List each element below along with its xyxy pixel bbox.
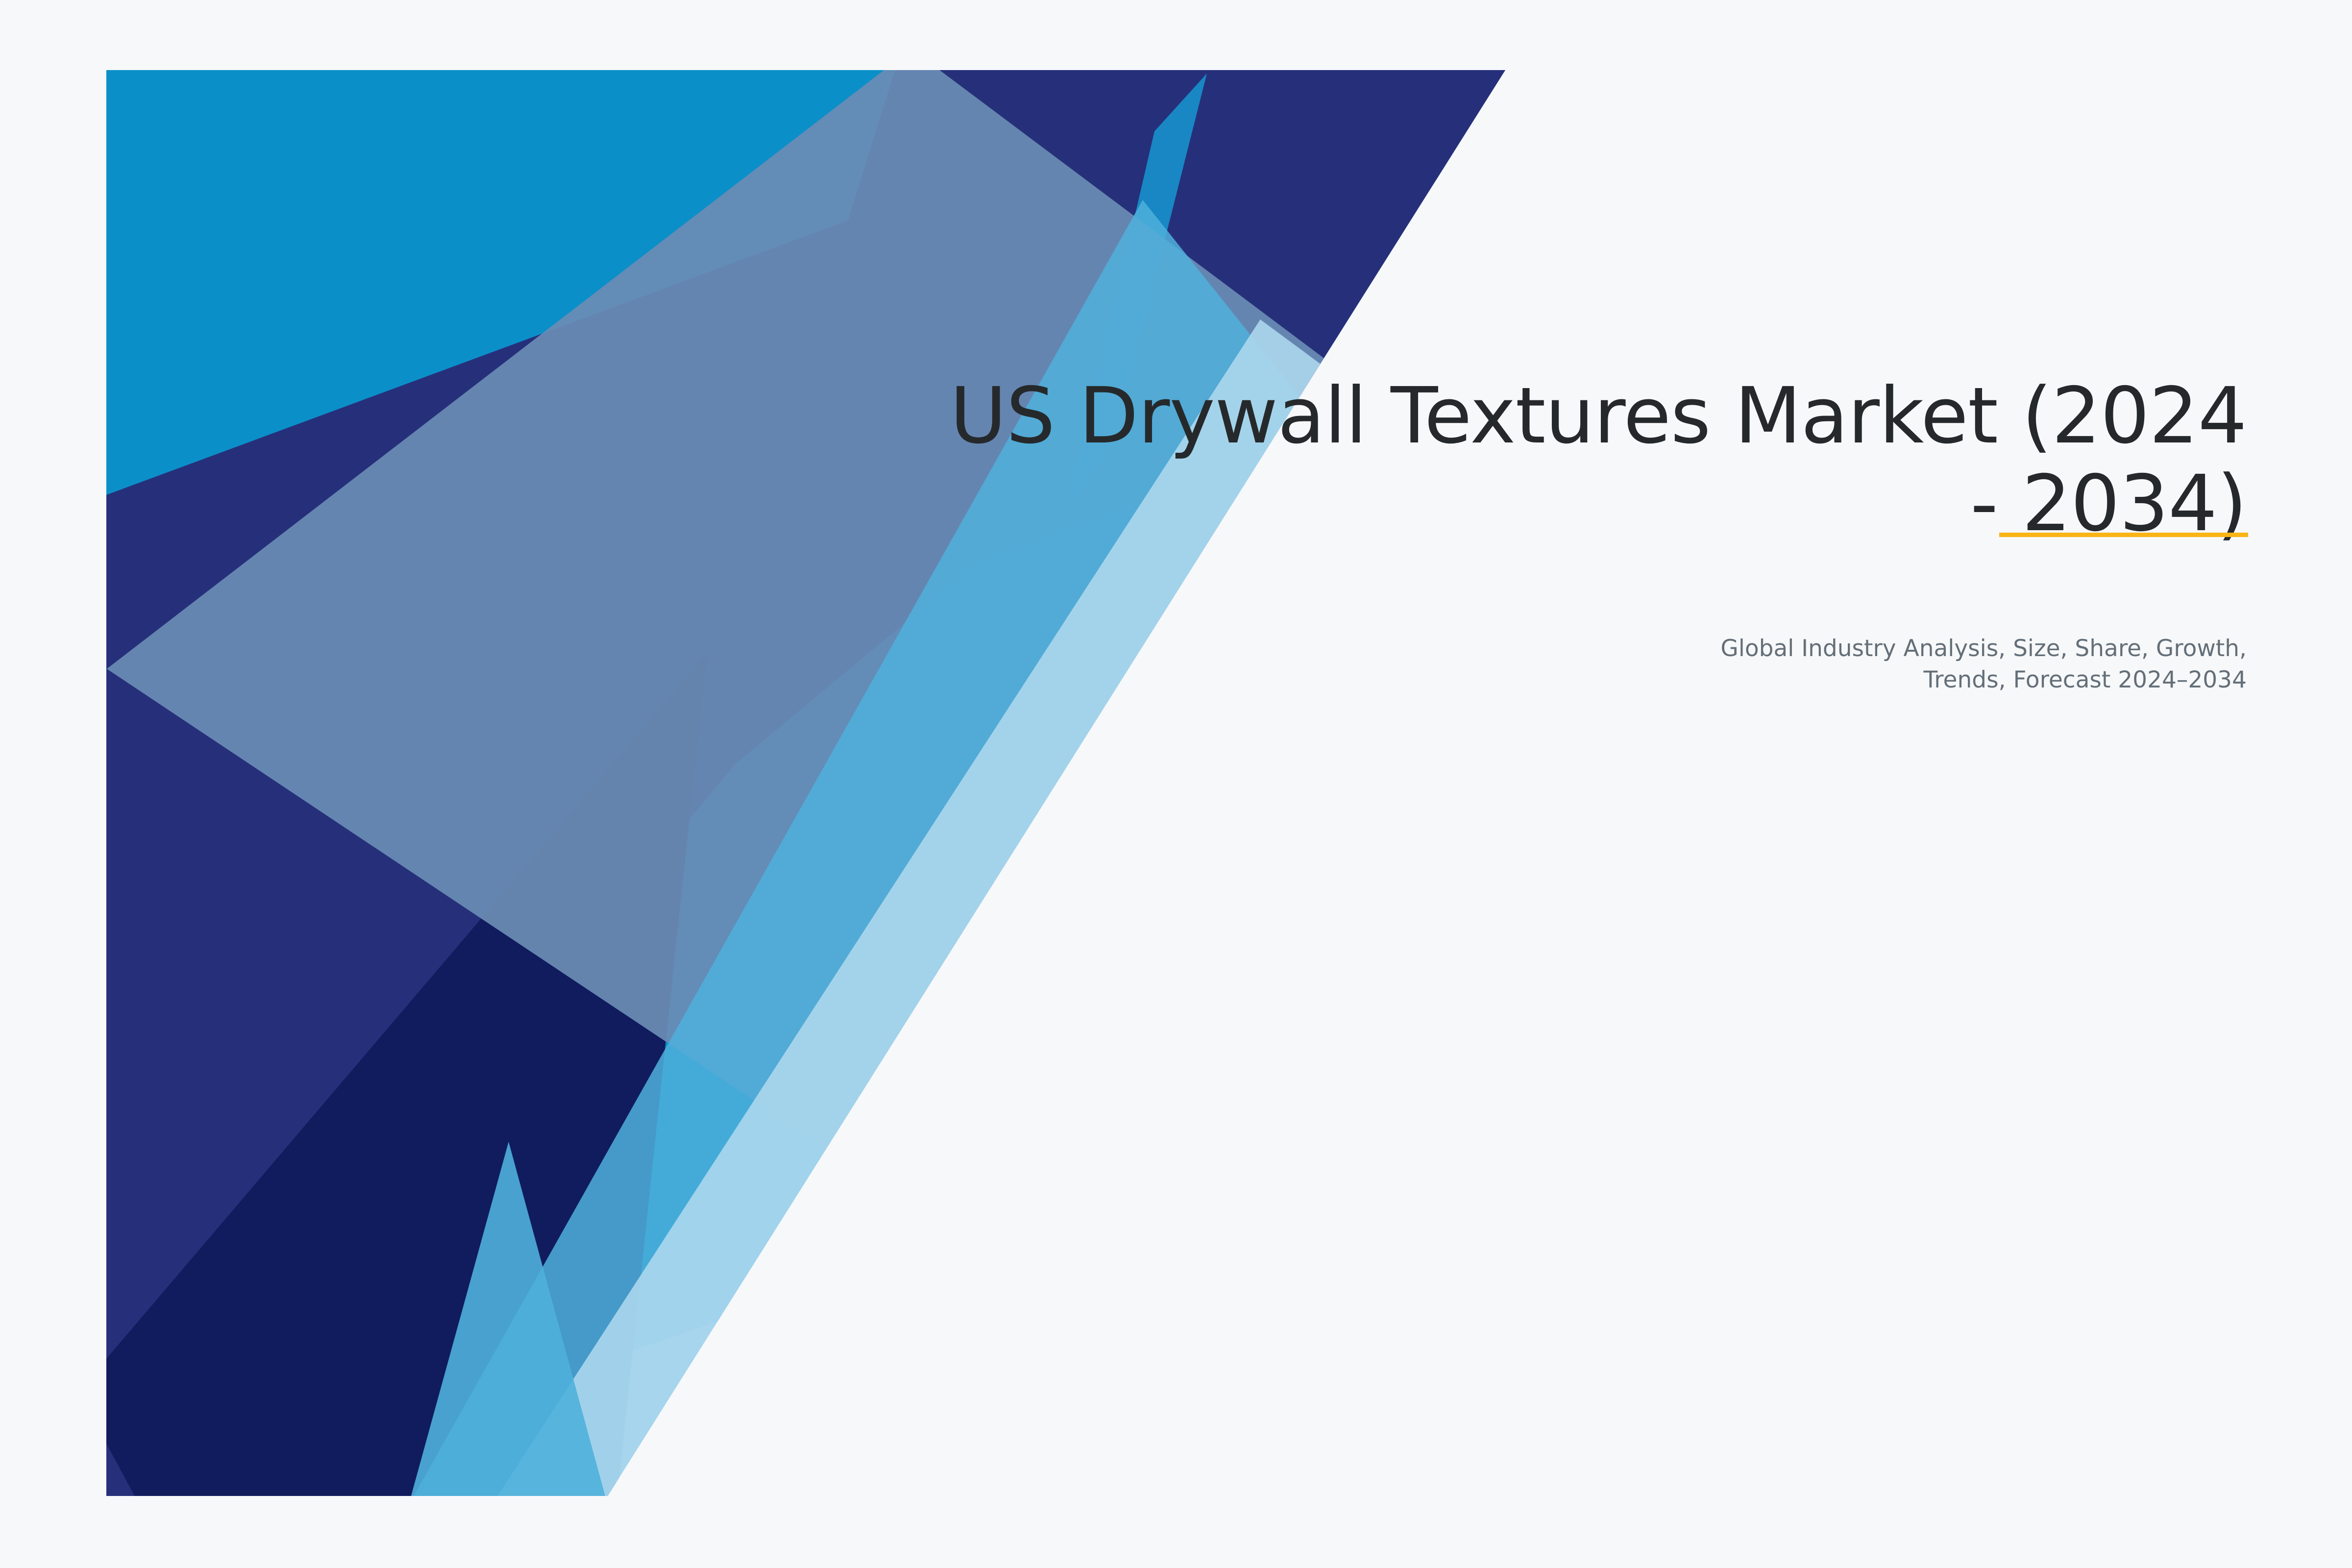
shape-sky-blue-tip — [405, 1142, 612, 1519]
page-title: US Drywall Textures Market (2024 - 2034) — [924, 372, 2247, 547]
shape-cyan-base — [0, 49, 1568, 1568]
artwork-svg — [0, 0, 2352, 1568]
artwork-shape-group — [0, 49, 1568, 1568]
shape-navy-wedge-upper — [106, 70, 1568, 1519]
title-accent-underline — [1999, 533, 2248, 537]
shape-dark-navy-lower — [78, 653, 707, 1519]
page-subtitle: Global Industry Analysis, Size, Share, G… — [1708, 633, 2247, 695]
cover-artwork — [0, 0, 2352, 1568]
report-cover: US Drywall Textures Market (2024 - 2034)… — [0, 0, 2352, 1568]
shape-dark-navy-spike — [304, 653, 707, 1519]
shape-navy-left-column — [73, 578, 529, 1519]
cover-text-block: US Drywall Textures Market (2024 - 2034)… — [924, 372, 2247, 695]
